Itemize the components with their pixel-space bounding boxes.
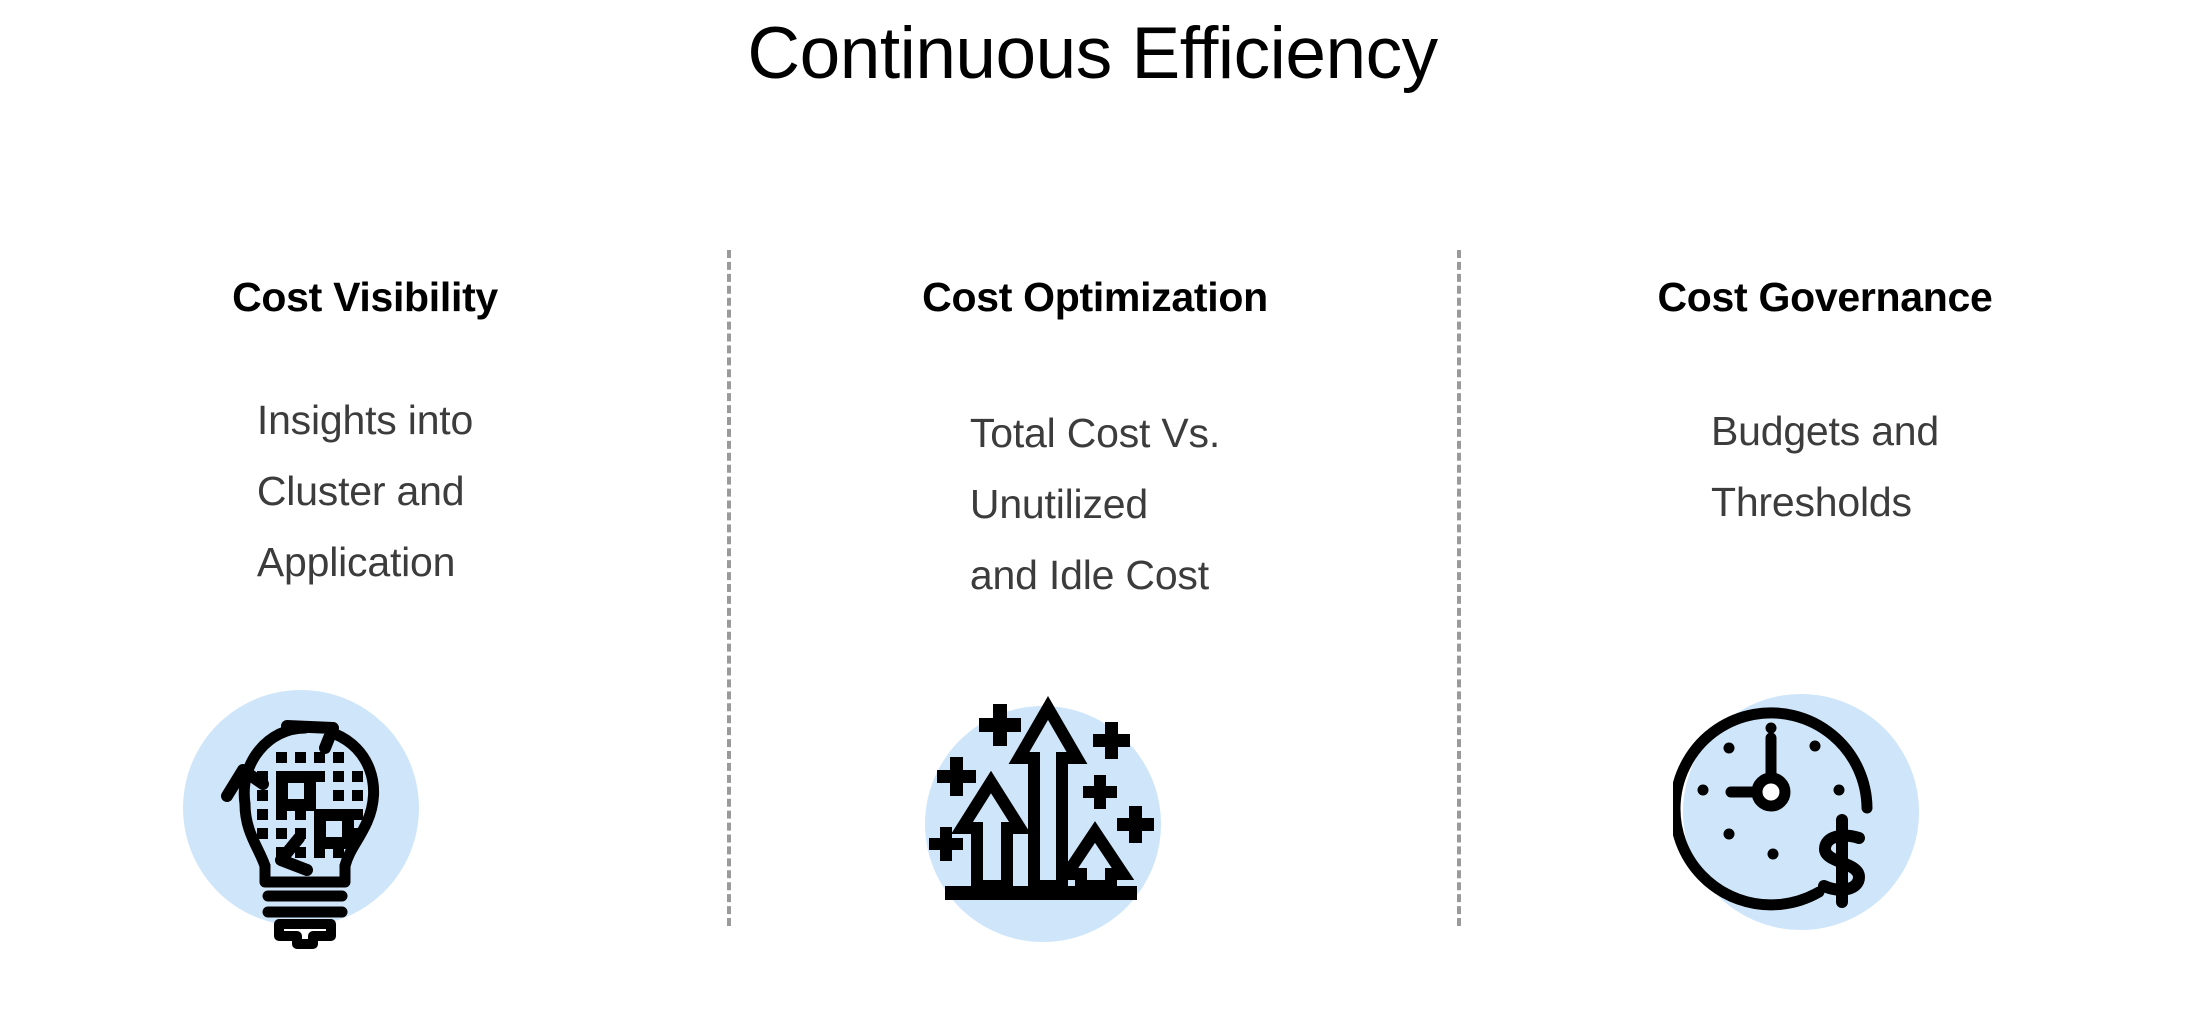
- body-line: Thresholds: [1711, 467, 1939, 538]
- slide-canvas: Continuous Efficiency Cost Visibility In…: [0, 0, 2190, 1030]
- body-line: Budgets and: [1711, 396, 1939, 467]
- body-line: Insights into: [257, 385, 473, 456]
- column-header-cost-governance: Cost Governance: [1475, 274, 2175, 321]
- column-header-cost-optimization: Cost Optimization: [745, 274, 1445, 321]
- column-body-cost-governance: Budgets and Thresholds: [1475, 396, 2175, 538]
- column-divider-1: [727, 250, 731, 926]
- body-line: and Idle Cost: [970, 540, 1220, 611]
- columns-container: Cost Visibility Insights into Cluster an…: [0, 250, 2190, 950]
- column-cost-visibility: Cost Visibility Insights into Cluster an…: [15, 250, 715, 950]
- body-line: Cluster and: [257, 456, 473, 527]
- column-divider-2: [1457, 250, 1461, 926]
- column-cost-optimization: Cost Optimization Total Cost Vs. Unutili…: [745, 250, 1445, 950]
- body-line: Application: [257, 527, 473, 598]
- lightbulb-pixel-refresh-icon: [183, 686, 523, 950]
- page-title: Continuous Efficiency: [0, 14, 2185, 94]
- body-line: Total Cost Vs.: [970, 398, 1220, 469]
- column-cost-governance: Cost Governance Budgets and Thresholds: [1475, 250, 2175, 950]
- column-header-cost-visibility: Cost Visibility: [15, 274, 715, 321]
- three-growth-arrows-icon: [915, 686, 1255, 950]
- body-line: Unutilized: [970, 469, 1220, 540]
- clock-dollar-icon: [1673, 686, 2013, 950]
- column-body-cost-optimization: Total Cost Vs. Unutilized and Idle Cost: [745, 398, 1445, 611]
- column-body-cost-visibility: Insights into Cluster and Application: [15, 385, 715, 598]
